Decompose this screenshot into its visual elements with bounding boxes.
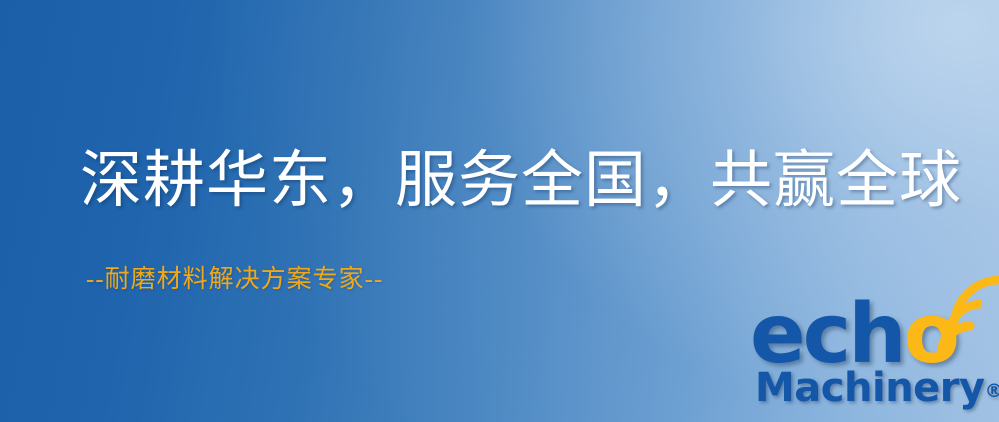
signal-waves-icon: [914, 294, 994, 364]
banner-headline: 深耕华东，服务全国，共赢全球: [80, 148, 962, 215]
logo-tagline-text: Machinery: [755, 365, 985, 411]
company-logo[interactable]: echo Machinery®: [750, 296, 994, 418]
hero-banner: 深耕华东，服务全国，共赢全球 --耐磨材料解决方案专家-- echo Machi…: [0, 0, 999, 422]
registered-trademark-icon: ®: [985, 380, 999, 402]
banner-subtitle: --耐磨材料解决方案专家--: [86, 265, 383, 295]
logo-tagline: Machinery®: [755, 368, 999, 408]
